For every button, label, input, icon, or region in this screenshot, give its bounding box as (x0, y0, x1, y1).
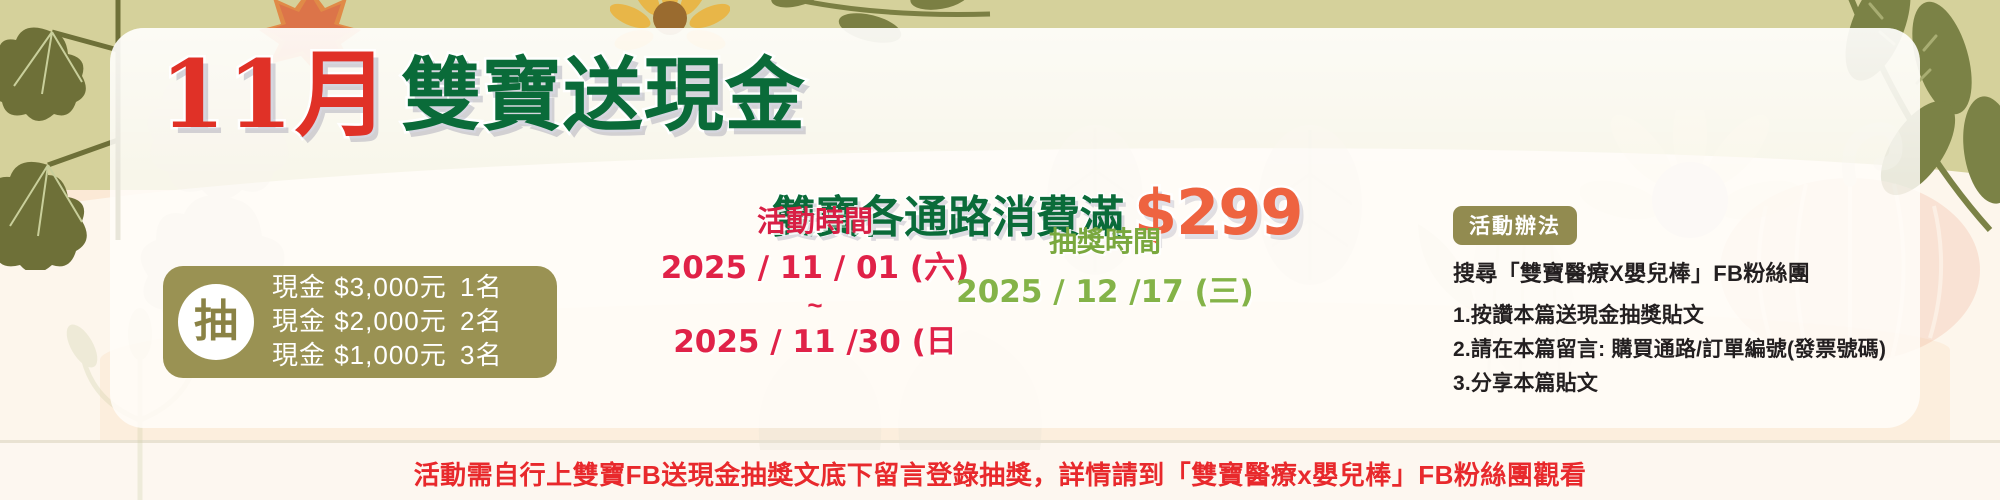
prize-row: 現金 $3,000元 1名 (272, 271, 520, 305)
prize-winner-count: 1名 (460, 271, 520, 305)
draw-time-date: 2025 / 12 /17 (三) (905, 266, 1305, 311)
draw-time: 抽獎時間 2025 / 12 /17 (三) (905, 220, 1305, 311)
prize-amount: 現金 $3,000元 (272, 271, 460, 305)
rule-item: 3.分享本篇貼文 (1453, 367, 1963, 401)
footer: 活動需自行上雙寶FB送現金抽獎文底下留言登錄抽獎，詳情請到「雙寶醫療x嬰兒棒」F… (0, 446, 2000, 500)
headline: 11月雙寶送現金 (160, 48, 806, 142)
rules-badge: 活動辦法 (1453, 206, 1577, 245)
rules-lead: 搜尋「雙寶醫療X嬰兒棒」FB粉絲團 (1453, 256, 1963, 288)
headline-month: 11月 (160, 48, 391, 142)
footer-text: 活動需自行上雙寶FB送現金抽獎文底下留言登錄抽獎，詳情請到「雙寶醫療x嬰兒棒」F… (414, 455, 1587, 492)
rule-item: 1.按讚本篇送現金抽獎貼文 (1453, 299, 1963, 333)
prize-winner-count: 2名 (460, 305, 520, 339)
draw-time-title: 抽獎時間 (905, 220, 1305, 260)
promo-banner: 11月雙寶送現金 雙寶各通路消費滿$299 抽 現金 $3,000元 1名 現金… (0, 0, 2000, 500)
draw-badge: 抽 (178, 284, 254, 360)
prize-box: 抽 現金 $3,000元 1名 現金 $2,000元 2名 現金 $1,000元… (163, 266, 557, 378)
draw-badge-label: 抽 (194, 300, 238, 344)
prize-row: 現金 $2,000元 2名 (272, 305, 520, 339)
event-period-end: 2025 / 11 /30 (日 (600, 320, 1030, 365)
prize-row: 現金 $1,000元 3名 (272, 339, 520, 373)
prize-amount: 現金 $2,000元 (272, 305, 460, 339)
rule-item: 2.請在本篇留言: 購買通路/訂單編號(發票號碼) (1453, 333, 1963, 367)
prize-list: 現金 $3,000元 1名 現金 $2,000元 2名 現金 $1,000元 3… (272, 271, 520, 372)
rules-section: 活動辦法 搜尋「雙寶醫療X嬰兒棒」FB粉絲團 1.按讚本篇送現金抽獎貼文 2.請… (1453, 206, 1963, 401)
headline-rest: 雙寶送現金 (401, 55, 806, 135)
prize-winner-count: 3名 (460, 339, 520, 373)
prize-amount: 現金 $1,000元 (272, 339, 460, 373)
